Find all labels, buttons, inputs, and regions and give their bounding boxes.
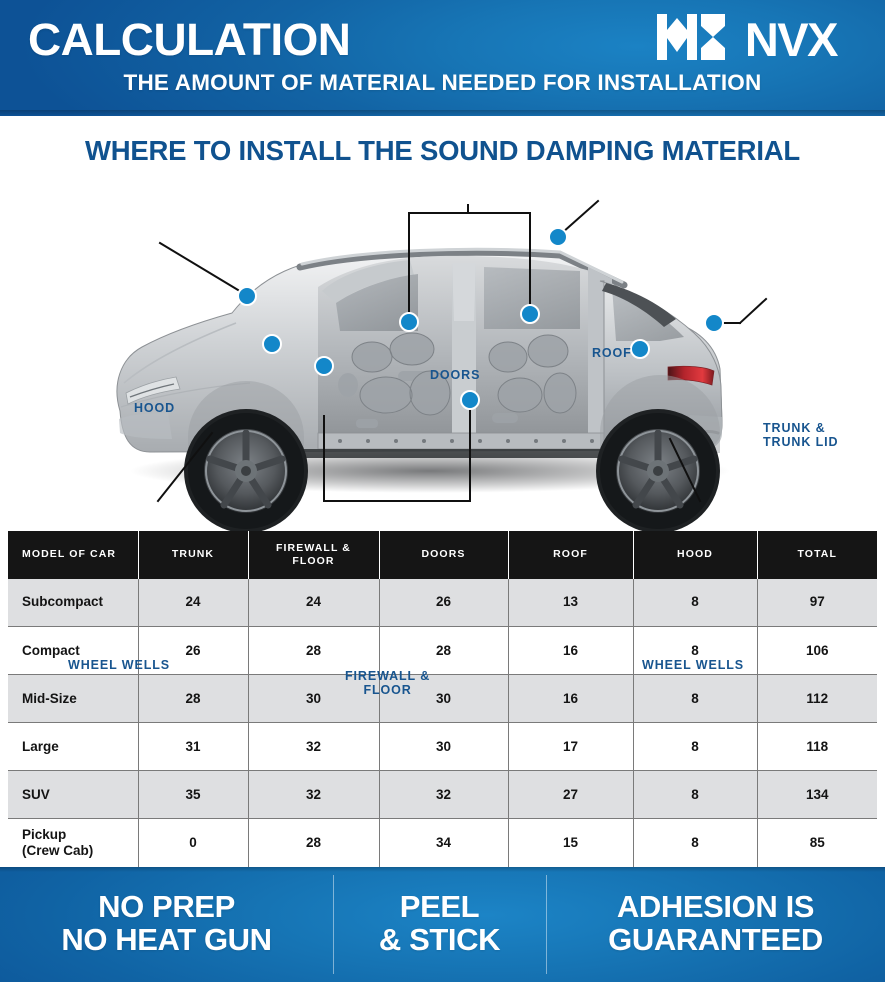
cell-roof: 13 bbox=[508, 579, 633, 627]
cell-doors: 32 bbox=[379, 771, 508, 819]
table-row: SUV 35 32 32 27 8 134 bbox=[8, 771, 877, 819]
footer-cell-peel: PEEL & STICK bbox=[333, 867, 546, 982]
rear-wheel bbox=[596, 409, 720, 531]
cell-roof: 16 bbox=[508, 675, 633, 723]
xnvx-hourglass-icon bbox=[655, 12, 747, 67]
col-header-total: TOTAL bbox=[757, 531, 877, 579]
page-footer: NO PREP NO HEAT GUN PEEL & STICK ADHESIO… bbox=[0, 867, 885, 982]
table-row: Large 31 32 30 17 8 118 bbox=[8, 723, 877, 771]
cell-total: 134 bbox=[757, 771, 877, 819]
brand-logo-wordmark: NVX bbox=[745, 16, 837, 63]
col-header-hood: HOOD bbox=[633, 531, 757, 579]
cell-model: Mid-Size bbox=[8, 675, 138, 723]
cell-hood: 8 bbox=[633, 723, 757, 771]
cell-firewall-floor: 28 bbox=[248, 819, 379, 867]
cell-model: Pickup (Crew Cab) bbox=[8, 819, 138, 867]
table-row: Subcompact 24 24 26 13 8 97 bbox=[8, 579, 877, 627]
cell-hood: 8 bbox=[633, 579, 757, 627]
col-header-roof: ROOF bbox=[508, 531, 633, 579]
cell-trunk: 31 bbox=[138, 723, 248, 771]
cell-model: Large bbox=[8, 723, 138, 771]
cell-firewall-floor: 24 bbox=[248, 579, 379, 627]
cell-doors: 30 bbox=[379, 723, 508, 771]
front-wheel bbox=[184, 409, 308, 531]
page-header: CALCULATION NVX THE AMOUNT OF MATERIAL N… bbox=[0, 0, 885, 116]
cell-trunk: 35 bbox=[138, 771, 248, 819]
cell-total: 85 bbox=[757, 819, 877, 867]
cell-doors: 26 bbox=[379, 579, 508, 627]
diagram-label-roof: ROOF bbox=[592, 346, 632, 361]
table-row: Mid-Size 28 30 30 16 8 112 bbox=[8, 675, 877, 723]
cell-model: SUV bbox=[8, 771, 138, 819]
car-diagram-svg bbox=[0, 171, 885, 531]
cell-firewall-floor: 32 bbox=[248, 771, 379, 819]
diagram-label-trunk: TRUNK & TRUNK LID bbox=[763, 421, 838, 451]
cell-doors: 34 bbox=[379, 819, 508, 867]
diagram-label-wheel-wells-front: WHEEL WELLS bbox=[68, 658, 170, 673]
page-title: CALCULATION bbox=[28, 17, 350, 62]
header-top-row: CALCULATION NVX bbox=[0, 0, 885, 70]
diagram-label-firewall-floor: FIREWALL & FLOOR bbox=[345, 669, 430, 699]
cell-roof: 17 bbox=[508, 723, 633, 771]
diagram-label-wheel-wells-rear: WHEEL WELLS bbox=[642, 658, 744, 673]
cell-hood: 8 bbox=[633, 675, 757, 723]
col-header-model: MODEL OF CAR bbox=[8, 531, 138, 579]
cell-total: 97 bbox=[757, 579, 877, 627]
col-header-doors: DOORS bbox=[379, 531, 508, 579]
footer-cell-adhesion: ADHESION IS GUARANTEED bbox=[546, 867, 885, 982]
cell-trunk: 24 bbox=[138, 579, 248, 627]
cell-firewall-floor: 32 bbox=[248, 723, 379, 771]
diagram-label-doors: DOORS bbox=[430, 368, 480, 383]
cell-roof: 15 bbox=[508, 819, 633, 867]
cell-roof: 16 bbox=[508, 627, 633, 675]
car-diagram: HOOD DOORS ROOF TRUNK & TRUNK LID WHEEL … bbox=[0, 171, 885, 531]
cell-trunk: 0 bbox=[138, 819, 248, 867]
col-header-firewall-floor: FIREWALL & FLOOR bbox=[248, 531, 379, 579]
header-subtitle: THE AMOUNT OF MATERIAL NEEDED FOR INSTAL… bbox=[0, 70, 885, 95]
material-table: MODEL OF CAR TRUNK FIREWALL & FLOOR DOOR… bbox=[8, 531, 877, 867]
cell-total: 106 bbox=[757, 627, 877, 675]
cell-total: 118 bbox=[757, 723, 877, 771]
cell-trunk: 28 bbox=[138, 675, 248, 723]
material-table-wrap: MODEL OF CAR TRUNK FIREWALL & FLOOR DOOR… bbox=[0, 531, 885, 867]
footer-cell-no-prep: NO PREP NO HEAT GUN bbox=[0, 867, 333, 982]
cell-roof: 27 bbox=[508, 771, 633, 819]
table-header-row: MODEL OF CAR TRUNK FIREWALL & FLOOR DOOR… bbox=[8, 531, 877, 579]
cell-total: 112 bbox=[757, 675, 877, 723]
section-heading: WHERE TO INSTALL THE SOUND DAMPING MATER… bbox=[0, 116, 885, 171]
brand-logo: NVX bbox=[655, 12, 859, 67]
table-row: Pickup (Crew Cab) 0 28 34 15 8 85 bbox=[8, 819, 877, 867]
diagram-label-hood: HOOD bbox=[134, 401, 175, 416]
cell-hood: 8 bbox=[633, 771, 757, 819]
cell-hood: 8 bbox=[633, 819, 757, 867]
cell-model: Subcompact bbox=[8, 579, 138, 627]
col-header-trunk: TRUNK bbox=[138, 531, 248, 579]
